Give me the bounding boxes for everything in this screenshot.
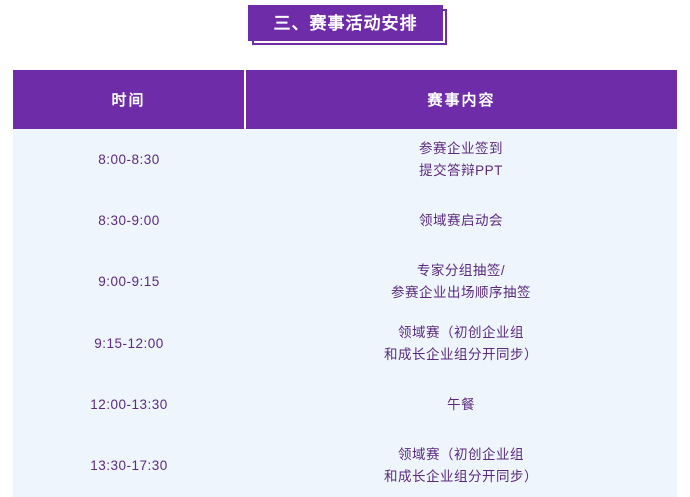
cell-content: 领域赛（初创企业组 和成长企业组分开同步）: [245, 435, 677, 497]
cell-content-line: 和成长企业组分开同步）: [245, 466, 677, 488]
cell-content-line: 参赛企业出场顺序抽签: [245, 282, 677, 304]
schedule-table-wrapper: 时间 赛事内容 8:00-8:30 参赛企业签到 提交答辩PPT 8:30-9:…: [13, 70, 677, 497]
table-row: 12:00-13:30 午餐: [13, 375, 677, 435]
section-title-banner: 三、赛事活动安排: [0, 0, 690, 55]
cell-time: 9:00-9:15: [13, 251, 245, 313]
column-header-time: 时间: [13, 70, 245, 129]
cell-time: 8:30-9:00: [13, 191, 245, 251]
table-row: 9:00-9:15 专家分组抽签/ 参赛企业出场顺序抽签: [13, 251, 677, 313]
cell-content: 午餐: [245, 375, 677, 435]
cell-content-line: 领域赛（初创企业组: [245, 444, 677, 466]
cell-content: 领域赛启动会: [245, 191, 677, 251]
column-header-content: 赛事内容: [245, 70, 677, 129]
table-row: 8:00-8:30 参赛企业签到 提交答辩PPT: [13, 129, 677, 191]
section-title-box: 三、赛事活动安排: [248, 5, 443, 41]
schedule-table-head: 时间 赛事内容: [13, 70, 677, 129]
table-header-row: 时间 赛事内容: [13, 70, 677, 129]
table-row: 13:30-17:30 领域赛（初创企业组 和成长企业组分开同步）: [13, 435, 677, 497]
cell-content-line: 提交答辩PPT: [245, 160, 677, 182]
cell-content-line: 参赛企业签到: [245, 138, 677, 160]
cell-time: 13:30-17:30: [13, 435, 245, 497]
cell-content: 专家分组抽签/ 参赛企业出场顺序抽签: [245, 251, 677, 313]
cell-time: 8:00-8:30: [13, 129, 245, 191]
cell-content-line: 午餐: [245, 394, 677, 416]
section-title-text: 三、赛事活动安排: [274, 15, 418, 32]
schedule-table: 时间 赛事内容 8:00-8:30 参赛企业签到 提交答辩PPT 8:30-9:…: [13, 70, 677, 497]
cell-content-line: 和成长企业组分开同步）: [245, 344, 677, 366]
schedule-table-body: 8:00-8:30 参赛企业签到 提交答辩PPT 8:30-9:00 领域赛启动…: [13, 129, 677, 497]
cell-content-line: 专家分组抽签/: [245, 260, 677, 282]
table-row: 9:15-12:00 领域赛（初创企业组 和成长企业组分开同步）: [13, 313, 677, 375]
cell-content-line: 领域赛（初创企业组: [245, 322, 677, 344]
cell-content: 领域赛（初创企业组 和成长企业组分开同步）: [245, 313, 677, 375]
cell-time: 12:00-13:30: [13, 375, 245, 435]
table-row: 8:30-9:00 领域赛启动会: [13, 191, 677, 251]
cell-content-line: 领域赛启动会: [245, 210, 677, 232]
cell-time: 9:15-12:00: [13, 313, 245, 375]
cell-content: 参赛企业签到 提交答辩PPT: [245, 129, 677, 191]
